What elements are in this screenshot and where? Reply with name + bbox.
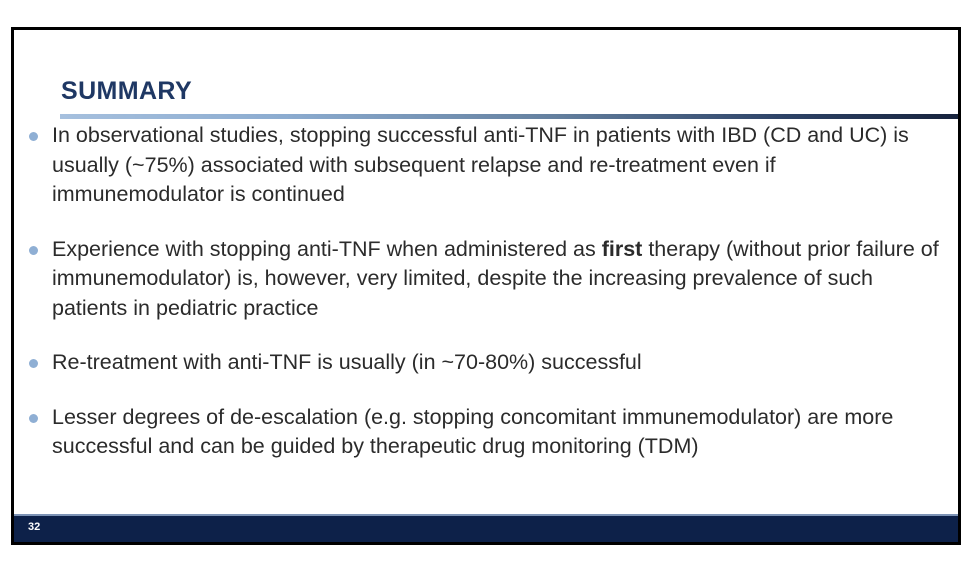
bullet-text: Experience with stopping anti-TNF when a… — [52, 235, 940, 324]
slide-root: SUMMARY In observational studies, stoppi… — [0, 0, 972, 571]
slide-content-area: SUMMARY In observational studies, stoppi… — [14, 30, 958, 542]
page-title: SUMMARY — [14, 78, 958, 104]
footer-bar: 32 — [14, 514, 958, 542]
bullet-text-run: Experience with stopping anti-TNF when a… — [52, 237, 602, 261]
bullet-text-run: Lesser degrees of de-escalation (e.g. st… — [52, 405, 893, 459]
bullet-item: Re-treatment with anti-TNF is usually (i… — [14, 348, 958, 378]
bullet-text-run: Re-treatment with anti-TNF is usually (i… — [52, 350, 642, 374]
bullet-item: In observational studies, stopping succe… — [14, 121, 958, 210]
slide-frame: SUMMARY In observational studies, stoppi… — [11, 27, 961, 545]
bullet-emphasis: first — [602, 237, 643, 261]
bullet-item: Lesser degrees of de-escalation (e.g. st… — [14, 403, 958, 462]
title-block: SUMMARY — [14, 78, 958, 104]
bullet-point-icon — [29, 132, 38, 141]
bullet-item: Experience with stopping anti-TNF when a… — [14, 235, 958, 324]
bullet-text: In observational studies, stopping succe… — [52, 121, 940, 210]
bullet-point-icon — [29, 246, 38, 255]
bullet-point-icon — [29, 414, 38, 423]
bullet-text: Lesser degrees of de-escalation (e.g. st… — [52, 403, 940, 462]
slide-number: 32 — [28, 521, 40, 533]
title-underline-rule — [60, 114, 958, 119]
bullet-text: Re-treatment with anti-TNF is usually (i… — [52, 348, 940, 378]
summary-bullet-list: In observational studies, stopping succe… — [14, 121, 958, 462]
bullet-text-run: In observational studies, stopping succe… — [52, 123, 909, 206]
bullet-point-icon — [29, 359, 38, 368]
